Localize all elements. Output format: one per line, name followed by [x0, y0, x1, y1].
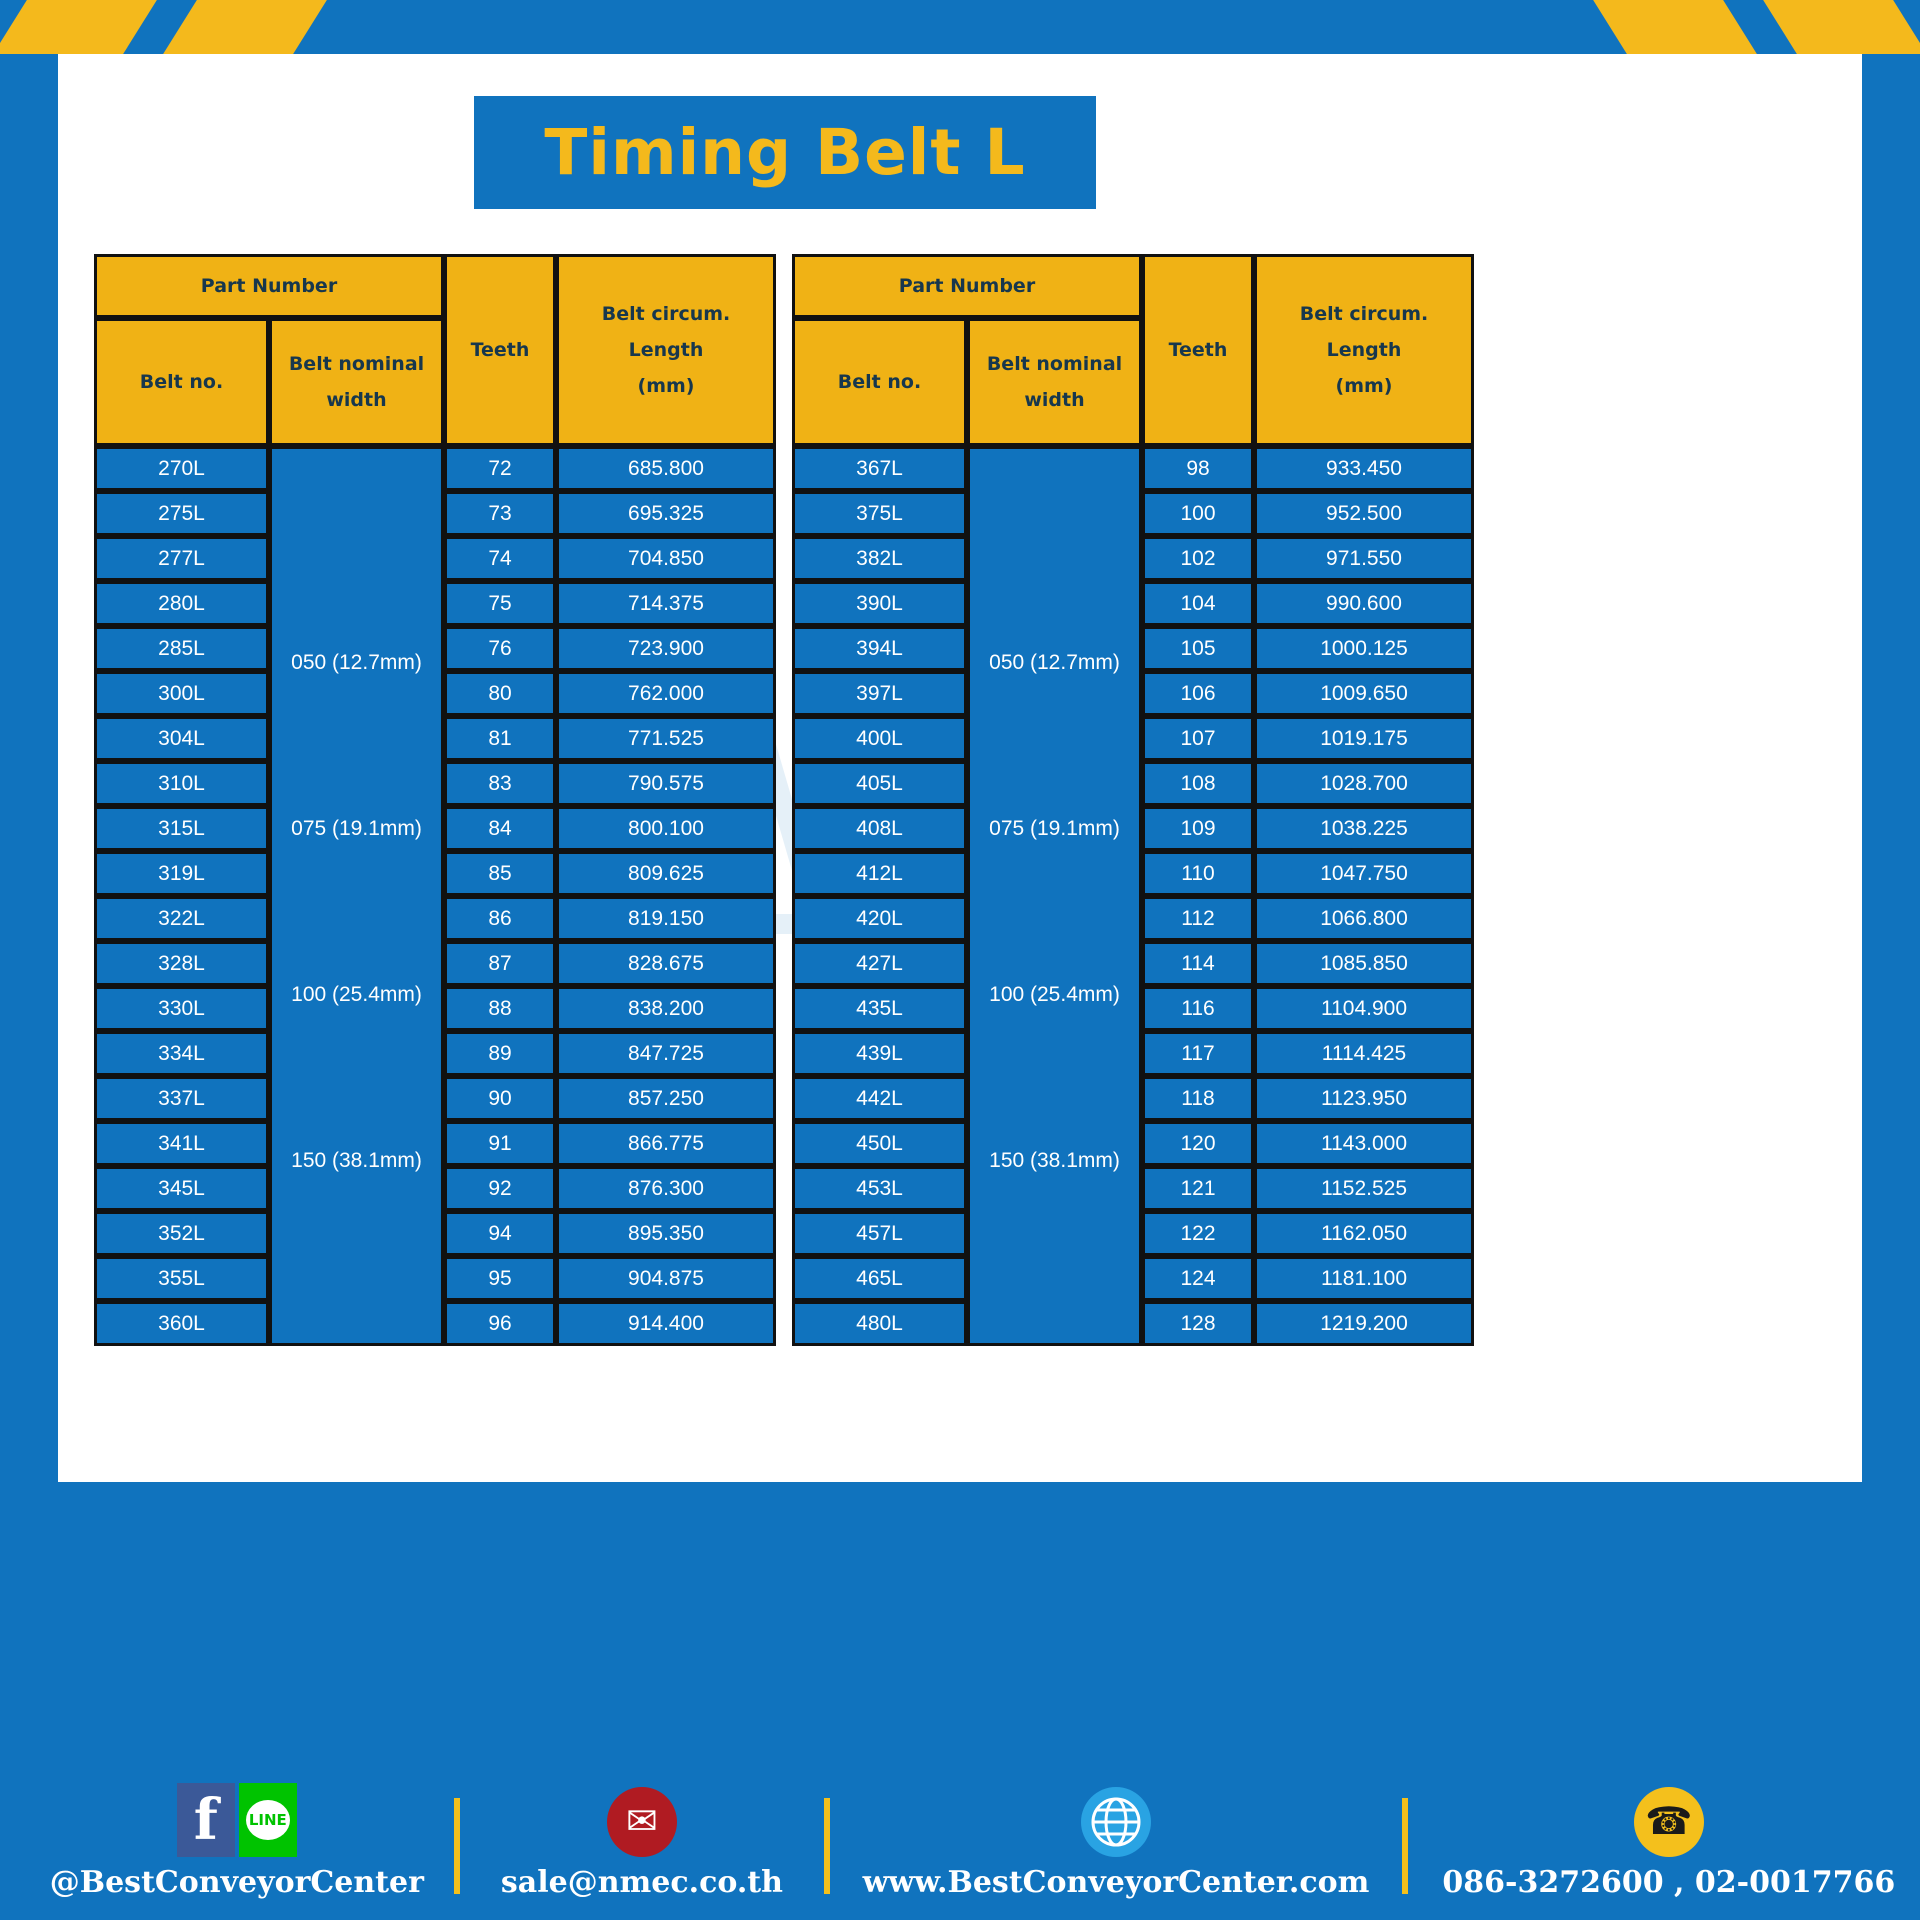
cell-length: 800.100	[556, 806, 776, 851]
website-label: www.BestConveyorCenter.com	[863, 1865, 1370, 1900]
cell-belt-no: 397L	[792, 671, 967, 716]
cell-length: 904.875	[556, 1256, 776, 1301]
belt-tables-container: Part NumberTeethBelt circum.Length(mm)Be…	[94, 254, 1826, 1346]
header-belt-no: Belt no.	[792, 318, 967, 446]
poster-page: Timing Belt L Part NumberTeethBelt circu…	[0, 0, 1920, 1920]
cell-belt-no: 390L	[792, 581, 967, 626]
page-title: Timing Belt L	[544, 116, 1025, 189]
header-belt-nominal-width: Belt nominalwidth	[269, 318, 444, 446]
width-option: 050 (12.7mm)	[272, 634, 441, 691]
footer-email-group[interactable]: ✉ sale@nmec.co.th	[470, 1787, 815, 1900]
header-teeth: Teeth	[444, 254, 556, 446]
cell-length: 971.550	[1254, 536, 1474, 581]
cell-belt-no: 355L	[94, 1256, 269, 1301]
cell-teeth: 95	[444, 1256, 556, 1301]
header-part-number: Part Number	[94, 254, 444, 318]
cell-length: 819.150	[556, 896, 776, 941]
cell-belt-nominal-width: 050 (12.7mm)075 (19.1mm)100 (25.4mm)150 …	[269, 446, 444, 1346]
cell-belt-no: 280L	[94, 581, 269, 626]
cell-belt-no: 277L	[94, 536, 269, 581]
cell-teeth: 109	[1142, 806, 1254, 851]
cell-teeth: 122	[1142, 1211, 1254, 1256]
cell-belt-no: 394L	[792, 626, 967, 671]
cell-teeth: 73	[444, 491, 556, 536]
cell-length: 1123.950	[1254, 1076, 1474, 1121]
cell-belt-no: 408L	[792, 806, 967, 851]
width-option: 075 (19.1mm)	[970, 800, 1139, 857]
cell-teeth: 98	[1142, 446, 1254, 491]
cell-teeth: 96	[444, 1301, 556, 1346]
cell-length: 933.450	[1254, 446, 1474, 491]
cell-belt-no: 382L	[792, 536, 967, 581]
header-part-number: Part Number	[792, 254, 1142, 318]
cell-belt-no: 457L	[792, 1211, 967, 1256]
cell-teeth: 104	[1142, 581, 1254, 626]
cell-length: 895.350	[556, 1211, 776, 1256]
footer-divider-3	[1402, 1798, 1408, 1894]
email-icon[interactable]: ✉	[607, 1787, 677, 1857]
footer-bar: f LINE @BestConveyorCenter ✉ sale@nmec.c…	[0, 1482, 1920, 1920]
cell-belt-no: 442L	[792, 1076, 967, 1121]
cell-teeth: 87	[444, 941, 556, 986]
table-header-row-top: Part NumberTeethBelt circum.Length(mm)	[792, 254, 1474, 318]
cell-teeth: 121	[1142, 1166, 1254, 1211]
cell-belt-no: 465L	[792, 1256, 967, 1301]
cell-length: 685.800	[556, 446, 776, 491]
cell-belt-no: 345L	[94, 1166, 269, 1211]
line-bubble-label: LINE	[246, 1800, 290, 1840]
cell-belt-no: 420L	[792, 896, 967, 941]
cell-belt-no: 400L	[792, 716, 967, 761]
width-option: 075 (19.1mm)	[272, 800, 441, 857]
cell-teeth: 75	[444, 581, 556, 626]
cell-teeth: 124	[1142, 1256, 1254, 1301]
globe-glyph	[1090, 1796, 1142, 1848]
social-icons: f LINE	[177, 1783, 297, 1857]
cell-length: 1162.050	[1254, 1211, 1474, 1256]
cell-length: 771.525	[556, 716, 776, 761]
cell-teeth: 92	[444, 1166, 556, 1211]
header-belt-no: Belt no.	[94, 318, 269, 446]
cell-belt-no: 304L	[94, 716, 269, 761]
cell-length: 704.850	[556, 536, 776, 581]
width-option: 100 (25.4mm)	[272, 966, 441, 1023]
cell-teeth: 86	[444, 896, 556, 941]
cell-length: 1143.000	[1254, 1121, 1474, 1166]
cell-belt-no: 315L	[94, 806, 269, 851]
cell-length: 790.575	[556, 761, 776, 806]
cell-teeth: 117	[1142, 1031, 1254, 1076]
width-option: 100 (25.4mm)	[970, 966, 1139, 1023]
cell-teeth: 128	[1142, 1301, 1254, 1346]
cell-length: 838.200	[556, 986, 776, 1031]
cell-belt-no: 405L	[792, 761, 967, 806]
cell-length: 847.725	[556, 1031, 776, 1076]
cell-length: 876.300	[556, 1166, 776, 1211]
cell-length: 714.375	[556, 581, 776, 626]
cell-length: 1047.750	[1254, 851, 1474, 896]
cell-belt-no: 375L	[792, 491, 967, 536]
belt-table-2: Part NumberTeethBelt circum.Length(mm)Be…	[792, 254, 1474, 1346]
cell-belt-no: 360L	[94, 1301, 269, 1346]
belt-table-1: Part NumberTeethBelt circum.Length(mm)Be…	[94, 254, 776, 1346]
cell-belt-no: 334L	[94, 1031, 269, 1076]
footer-website-group[interactable]: www.BestConveyorCenter.com	[840, 1787, 1392, 1900]
cell-teeth: 110	[1142, 851, 1254, 896]
cell-length: 1038.225	[1254, 806, 1474, 851]
cell-teeth: 90	[444, 1076, 556, 1121]
header-teeth: Teeth	[1142, 254, 1254, 446]
table-header-row-top: Part NumberTeethBelt circum.Length(mm)	[94, 254, 776, 318]
cell-belt-no: 412L	[792, 851, 967, 896]
cell-teeth: 105	[1142, 626, 1254, 671]
cell-teeth: 94	[444, 1211, 556, 1256]
cell-length: 762.000	[556, 671, 776, 716]
phone-label: 086-3272600 , 02-0017766	[1442, 1865, 1895, 1900]
footer-divider-1	[454, 1798, 460, 1894]
cell-belt-nominal-width: 050 (12.7mm)075 (19.1mm)100 (25.4mm)150 …	[967, 446, 1142, 1346]
cell-belt-no: 330L	[94, 986, 269, 1031]
cell-belt-no: 450L	[792, 1121, 967, 1166]
cell-teeth: 88	[444, 986, 556, 1031]
cell-teeth: 76	[444, 626, 556, 671]
footer-contact-row: f LINE @BestConveyorCenter ✉ sale@nmec.c…	[0, 1770, 1920, 1900]
phone-icon[interactable]: ☎	[1634, 1787, 1704, 1857]
width-option: 050 (12.7mm)	[970, 634, 1139, 691]
cell-teeth: 74	[444, 536, 556, 581]
cell-belt-no: 480L	[792, 1301, 967, 1346]
cell-belt-no: 352L	[94, 1211, 269, 1256]
cell-length: 723.900	[556, 626, 776, 671]
cell-length: 952.500	[1254, 491, 1474, 536]
line-icon[interactable]: LINE	[239, 1783, 297, 1857]
cell-length: 828.675	[556, 941, 776, 986]
cell-length: 857.250	[556, 1076, 776, 1121]
cell-length: 1219.200	[1254, 1301, 1474, 1346]
footer-social-group[interactable]: f LINE @BestConveyorCenter	[30, 1783, 444, 1900]
cell-length: 1085.850	[1254, 941, 1474, 986]
cell-teeth: 106	[1142, 671, 1254, 716]
cell-teeth: 83	[444, 761, 556, 806]
cell-length: 809.625	[556, 851, 776, 896]
title-banner: Timing Belt L	[474, 96, 1096, 209]
belt-spec-table: Part NumberTeethBelt circum.Length(mm)Be…	[792, 254, 1474, 1346]
footer-phone-group[interactable]: ☎ 086-3272600 , 02-0017766	[1418, 1787, 1920, 1900]
cell-belt-no: 453L	[792, 1166, 967, 1211]
cell-teeth: 120	[1142, 1121, 1254, 1166]
header-belt-circum-length: Belt circum.Length(mm)	[556, 254, 776, 446]
cell-belt-no: 319L	[94, 851, 269, 896]
cell-teeth: 108	[1142, 761, 1254, 806]
cell-teeth: 84	[444, 806, 556, 851]
cell-length: 1181.100	[1254, 1256, 1474, 1301]
table-row: 270L050 (12.7mm)075 (19.1mm)100 (25.4mm)…	[94, 446, 776, 491]
cell-belt-no: 367L	[792, 446, 967, 491]
cell-belt-no: 435L	[792, 986, 967, 1031]
email-label: sale@nmec.co.th	[501, 1865, 783, 1900]
cell-belt-no: 328L	[94, 941, 269, 986]
cell-belt-no: 310L	[94, 761, 269, 806]
cell-belt-no: 341L	[94, 1121, 269, 1166]
header-belt-nominal-width: Belt nominalwidth	[967, 318, 1142, 446]
cell-teeth: 91	[444, 1121, 556, 1166]
cell-length: 914.400	[556, 1301, 776, 1346]
cell-length: 866.775	[556, 1121, 776, 1166]
cell-length: 1009.650	[1254, 671, 1474, 716]
cell-length: 695.325	[556, 491, 776, 536]
facebook-icon[interactable]: f	[177, 1783, 235, 1857]
cell-teeth: 114	[1142, 941, 1254, 986]
cell-length: 1104.900	[1254, 986, 1474, 1031]
cell-length: 1066.800	[1254, 896, 1474, 941]
table-row: 367L050 (12.7mm)075 (19.1mm)100 (25.4mm)…	[792, 446, 1474, 491]
cell-belt-no: 427L	[792, 941, 967, 986]
chevron-decoration-right	[1360, 0, 1920, 54]
width-option: 150 (38.1mm)	[970, 1132, 1139, 1189]
cell-belt-no: 270L	[94, 446, 269, 491]
cell-teeth: 72	[444, 446, 556, 491]
cell-belt-no: 285L	[94, 626, 269, 671]
cell-length: 990.600	[1254, 581, 1474, 626]
social-handle-label: @BestConveyorCenter	[50, 1865, 424, 1900]
cell-belt-no: 300L	[94, 671, 269, 716]
cell-teeth: 81	[444, 716, 556, 761]
cell-length: 1152.525	[1254, 1166, 1474, 1211]
belt-spec-table: Part NumberTeethBelt circum.Length(mm)Be…	[94, 254, 776, 1346]
cell-teeth: 89	[444, 1031, 556, 1076]
cell-teeth: 80	[444, 671, 556, 716]
cell-teeth: 116	[1142, 986, 1254, 1031]
cell-teeth: 118	[1142, 1076, 1254, 1121]
globe-icon[interactable]	[1081, 1787, 1151, 1857]
cell-length: 1000.125	[1254, 626, 1474, 671]
cell-belt-no: 322L	[94, 896, 269, 941]
content-sheet: Timing Belt L Part NumberTeethBelt circu…	[58, 54, 1862, 1482]
cell-length: 1019.175	[1254, 716, 1474, 761]
cell-teeth: 100	[1142, 491, 1254, 536]
cell-teeth: 102	[1142, 536, 1254, 581]
width-option: 150 (38.1mm)	[272, 1132, 441, 1189]
header-belt-circum-length: Belt circum.Length(mm)	[1254, 254, 1474, 446]
cell-teeth: 107	[1142, 716, 1254, 761]
cell-teeth: 85	[444, 851, 556, 896]
cell-belt-no: 337L	[94, 1076, 269, 1121]
chevron-decoration-left	[0, 0, 560, 54]
cell-length: 1114.425	[1254, 1031, 1474, 1076]
footer-divider-2	[824, 1798, 830, 1894]
cell-length: 1028.700	[1254, 761, 1474, 806]
cell-belt-no: 439L	[792, 1031, 967, 1076]
cell-teeth: 112	[1142, 896, 1254, 941]
cell-belt-no: 275L	[94, 491, 269, 536]
